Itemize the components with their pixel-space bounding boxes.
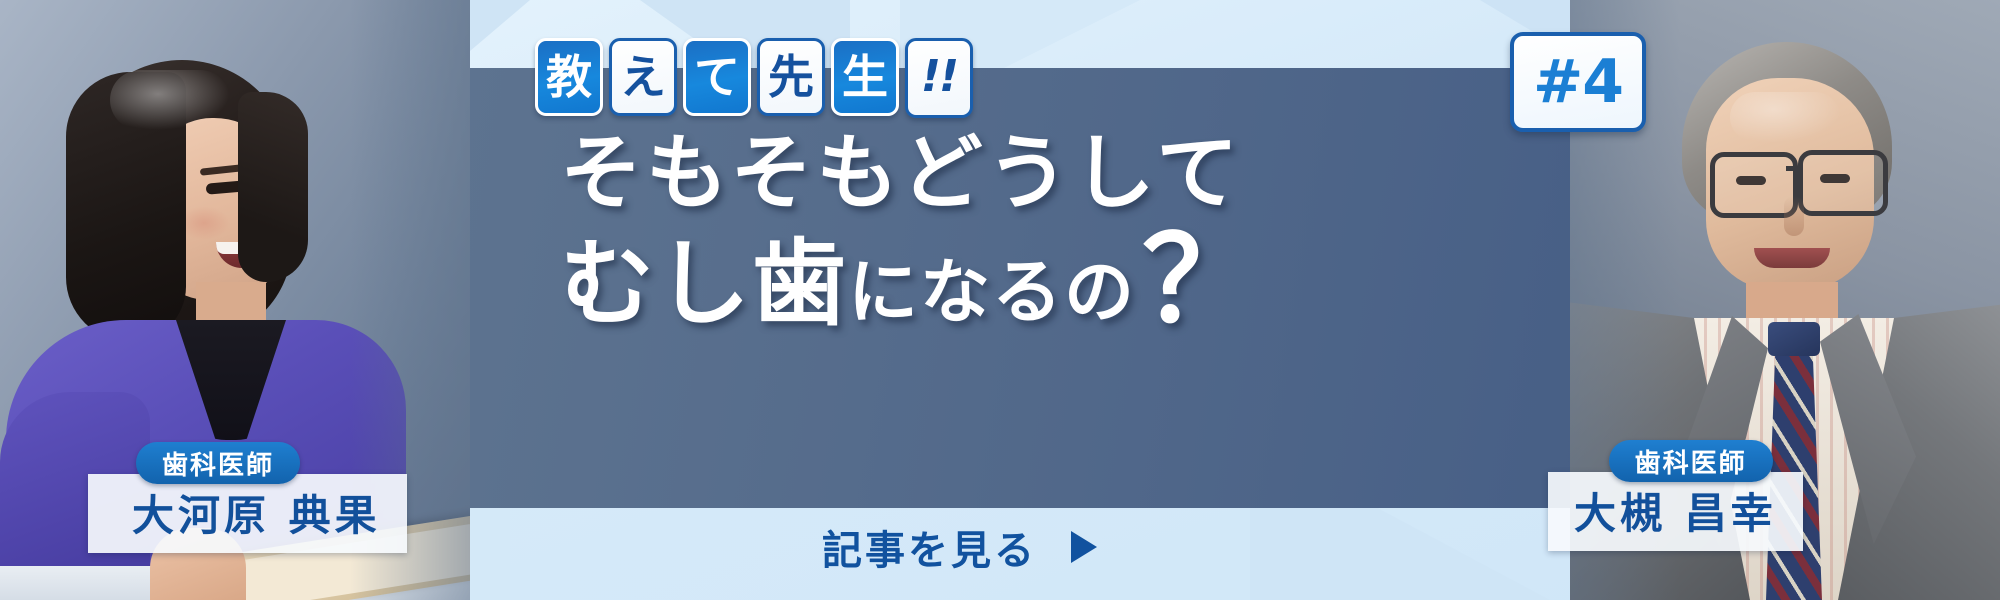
headline-question-mark: ？ — [1136, 226, 1260, 335]
headline-suffix: になるの — [848, 256, 1136, 335]
headline-line-1: そもそもどうして — [560, 128, 1460, 220]
role-badge: 歯科医師 — [1609, 440, 1773, 482]
series-tile: 教 — [535, 38, 603, 116]
series-title-badge: 教 え て 先 生 !! — [535, 38, 973, 118]
read-article-label: 記事を見る — [822, 518, 1037, 576]
headline: そもそもどうして むし歯 になるの ？ — [560, 128, 1460, 334]
series-tile: て — [683, 38, 751, 116]
episode-number-label: #4 — [1533, 52, 1623, 112]
person-name: 大槻 昌幸 — [1548, 472, 1803, 551]
person-mouth — [1754, 248, 1830, 268]
necktie-knot — [1768, 322, 1820, 356]
play-triangle-icon — [1071, 531, 1097, 563]
eyeglasses-bridge — [1786, 166, 1802, 171]
person-forehead-highlight — [1730, 92, 1840, 142]
series-tile: 先 — [757, 38, 825, 116]
role-badge: 歯科医師 — [136, 442, 300, 484]
person-hair-highlight — [110, 70, 230, 130]
person-nose — [1784, 196, 1804, 236]
headline-line-2: むし歯 になるの ？ — [560, 226, 1460, 335]
nameplate-left: 歯科医師 大河原 典果 — [88, 442, 407, 553]
nameplate-right: 歯科医師 大槻 昌幸 — [1548, 440, 1803, 551]
person-name: 大河原 典果 — [88, 474, 407, 553]
eyeglasses-icon — [1798, 150, 1888, 216]
read-article-cta[interactable]: 記事を見る — [822, 518, 1097, 576]
person-hair-side — [238, 92, 308, 282]
episode-number-badge: #4 — [1510, 32, 1646, 132]
headline-keyword: むし歯 — [560, 236, 848, 335]
series-tile: え — [609, 38, 677, 116]
promo-banner: 教 え て 先 生 !! #4 そもそもどうして むし歯 になるの ？ 記事を見… — [0, 0, 2000, 600]
series-tile: 生 — [831, 38, 899, 116]
series-tile-exclamation: !! — [905, 38, 973, 118]
